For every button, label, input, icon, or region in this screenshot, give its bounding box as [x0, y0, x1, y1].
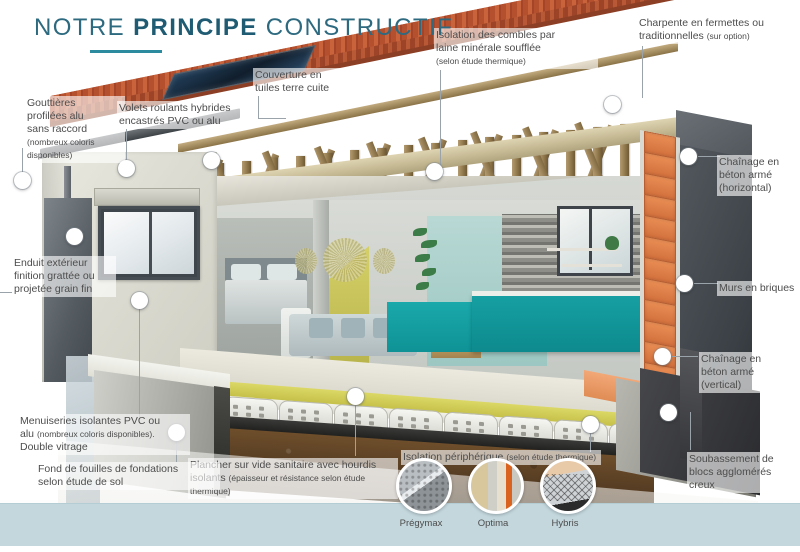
- hourdis-void: [356, 413, 361, 417]
- leader-line-chainage-v: [672, 356, 698, 357]
- hourdis-void: [301, 416, 306, 420]
- callout-label-couverture: Couverture en tuiles terre cuite: [253, 68, 367, 96]
- kitchen-worktop: [472, 291, 647, 296]
- hourdis-void: [343, 419, 348, 423]
- hourdis-void: [479, 422, 484, 426]
- callout-line: (horizontal): [719, 182, 799, 195]
- callout-line: creux: [689, 479, 797, 492]
- hourdis-void: [411, 424, 416, 428]
- hourdis-void: [479, 429, 484, 433]
- callout-label-volets: Volets roulants hybrides encastrés PVC o…: [117, 101, 241, 129]
- plant-leaf: [415, 254, 430, 262]
- page-title-block: NOTRE PRINCIPE CONSTRUCTIF: [34, 14, 453, 53]
- hourdis-void: [521, 432, 526, 436]
- hybris-material-icon: [540, 458, 596, 514]
- callout-line: profilées alu: [27, 110, 123, 123]
- callout-line: Fond de fouilles de fondations: [38, 463, 218, 476]
- title-part-1: NOTRE: [34, 14, 133, 41]
- callout-subnote: (sur option): [707, 31, 750, 41]
- callout-line-text: Menuiseries isolantes PVC ou: [20, 415, 160, 427]
- hourdis-void: [466, 421, 471, 425]
- plant-leaf: [413, 228, 427, 236]
- callout-line: Chaînage en: [719, 156, 799, 169]
- callout-line: béton armé: [701, 366, 789, 379]
- hourdis-void: [398, 416, 403, 420]
- indoor-plant: [413, 228, 439, 302]
- hourdis-void: [453, 420, 458, 424]
- hourdis-void: [369, 421, 374, 425]
- hourdis-void: [563, 428, 568, 432]
- hourdis-void: [246, 406, 251, 410]
- callout-line: sans raccord: [27, 123, 123, 136]
- hourdis-void: [453, 427, 458, 431]
- plant-leaf: [416, 282, 429, 290]
- callout-label-gouttieres: Gouttières profilées alu sans raccord (n…: [25, 96, 125, 163]
- window-mullion: [149, 212, 152, 274]
- hourdis-void: [411, 417, 416, 421]
- callout-dot-menuiseries[interactable]: [131, 292, 148, 309]
- callout-label-soubassement: Soubassement de blocs agglomérés creux: [687, 452, 799, 493]
- callout-dot-charpente[interactable]: [604, 96, 621, 113]
- hourdis-void: [534, 433, 539, 437]
- callout-line-text: alu: [20, 428, 34, 440]
- leader-line-charpente: [642, 46, 643, 98]
- hourdis-void: [534, 426, 539, 430]
- callout-label-charpente: Charpente en fermettes ou traditionnelle…: [637, 16, 791, 44]
- hourdis-void: [466, 428, 471, 432]
- hourdis-void: [301, 409, 306, 413]
- page-title: NOTRE PRINCIPE CONSTRUCTIF: [34, 14, 453, 42]
- callout-line: alu (nombreux coloris disponibles).: [20, 428, 188, 441]
- kitchen-shelf: [562, 264, 622, 267]
- callout-dot-chainage-horizontal[interactable]: [680, 148, 697, 165]
- material-chip-label: Hybris: [540, 518, 590, 529]
- hourdis-void: [314, 410, 319, 414]
- kitchen-island: [387, 302, 479, 352]
- plant-leaf: [421, 240, 437, 248]
- callout-line-text: traditionnelles: [639, 30, 704, 42]
- optima-material-icon: [468, 458, 524, 514]
- callout-line: (vertical): [701, 379, 789, 392]
- hourdis-void: [343, 412, 348, 416]
- potted-plant: [605, 236, 619, 250]
- callout-dot-isolation-peripherique[interactable]: [582, 416, 599, 433]
- leader-line-couverture-h: [258, 118, 286, 119]
- roller-shutter-box: [94, 188, 200, 206]
- hourdis-void: [288, 408, 293, 412]
- material-chip-optima[interactable]: Optima: [468, 458, 518, 529]
- material-chip-label: Optima: [468, 518, 518, 529]
- callout-line: Enduit extérieur: [14, 257, 114, 270]
- hourdis-void: [576, 429, 581, 433]
- callout-label-chainage-horizontal: Chaînage en béton armé (horizontal): [717, 155, 800, 196]
- title-part-bold: PRINCIPE: [133, 14, 258, 41]
- hourdis-void: [508, 424, 513, 428]
- callout-line: béton armé: [719, 169, 799, 182]
- hourdis-void: [246, 413, 251, 417]
- callout-line: selon étude de sol: [38, 476, 218, 489]
- interior-cutaway: [217, 176, 647, 386]
- leader-line-soubassement: [690, 412, 691, 450]
- callout-line: encastrés PVC ou alu: [119, 115, 239, 128]
- callout-line: projetée grain fin: [14, 283, 114, 296]
- callout-dot-murs-briques[interactable]: [676, 275, 693, 292]
- diagram-page: NOTRE PRINCIPE CONSTRUCTIF Gouttières pr…: [0, 0, 800, 552]
- brick-wall-cutaway: [640, 130, 680, 408]
- hourdis-void: [508, 431, 513, 435]
- hourdis-void: [259, 406, 264, 410]
- callout-subnote: (nombreux coloris disponibles).: [37, 429, 155, 439]
- callout-dot-gouttieres[interactable]: [14, 172, 31, 189]
- hourdis-void: [424, 425, 429, 429]
- cushion: [309, 318, 333, 338]
- hourdis-void: [356, 420, 361, 424]
- callout-label-isolation-combles: Isolation des combles par laine minérale…: [434, 28, 598, 69]
- leader-line-plancher: [355, 396, 356, 456]
- callout-line: blocs agglomérés: [689, 466, 797, 479]
- material-chip-hybris[interactable]: Hybris: [540, 458, 590, 529]
- material-chip-label: Prégymax: [396, 518, 446, 529]
- hourdis-void: [288, 415, 293, 419]
- callout-subnote: (selon étude thermique): [436, 56, 526, 66]
- hourdis-void: [576, 436, 581, 440]
- hourdis-void: [233, 405, 238, 409]
- callout-label-chainage-vertical: Chaînage en béton armé (vertical): [699, 352, 791, 393]
- callout-line: Charpente en fermettes ou: [639, 17, 789, 30]
- hourdis-void: [259, 413, 264, 417]
- hourdis-void: [521, 425, 526, 429]
- callout-line: Couverture en: [255, 69, 365, 82]
- callout-line: isolants (épaisseur et résistance selon …: [190, 472, 396, 498]
- interior-window-mullion: [589, 206, 592, 270]
- callout-line: Gouttières: [27, 97, 123, 110]
- callout-label-enduit: Enduit extérieur finition grattée ou pro…: [12, 256, 116, 297]
- callout-line: Menuiseries isolantes PVC ou: [20, 415, 188, 428]
- leader-line-menuiseries-v: [139, 300, 140, 420]
- callout-line: tuiles terre cuite: [255, 82, 365, 95]
- callout-line: Volets roulants hybrides: [119, 102, 239, 115]
- kitchen-counter: [472, 294, 647, 352]
- hourdis-void: [369, 414, 374, 418]
- callout-line: Murs en briques: [719, 282, 799, 295]
- callout-dot-couverture[interactable]: [203, 152, 220, 169]
- pillow: [231, 264, 261, 280]
- title-part-2: CONSTRUCTIF: [258, 14, 453, 41]
- callout-line: Soubassement de: [689, 453, 797, 466]
- title-underline-rule: [90, 50, 162, 53]
- callout-label-menuiseries: Menuiseries isolantes PVC ou alu (nombre…: [18, 414, 190, 455]
- callout-dot-soubassement[interactable]: [660, 404, 677, 421]
- callout-dot-isolation-combles[interactable]: [426, 163, 443, 180]
- hourdis-void: [233, 412, 238, 416]
- callout-dot-enduit[interactable]: [66, 228, 83, 245]
- sunburst-wall-decor-small: [295, 248, 317, 274]
- leader-line-murs: [694, 283, 718, 284]
- leader-line-isolation-combles: [440, 70, 441, 166]
- leader-line-enduit: [0, 292, 12, 293]
- pregymax-material-icon: [396, 458, 452, 514]
- callout-line: laine minérale soufflée: [436, 42, 596, 55]
- callout-dot-plancher[interactable]: [347, 388, 364, 405]
- material-chips: Prégymax Optima Hybris: [396, 458, 596, 546]
- plant-leaf: [422, 268, 436, 276]
- pillow: [267, 264, 297, 280]
- leader-line-couverture: [258, 96, 259, 118]
- hourdis-void: [314, 417, 319, 421]
- hourdis-void: [398, 423, 403, 427]
- callout-line: Plancher sur vide sanitaire avec hourdis: [190, 459, 396, 472]
- callout-line: traditionnelles (sur option): [639, 30, 789, 43]
- sunburst-wall-decor-small: [373, 248, 395, 274]
- cushion: [341, 318, 365, 338]
- callout-line: Chaînage en: [701, 353, 789, 366]
- hourdis-void: [563, 435, 568, 439]
- callout-label-murs-briques: Murs en briques: [717, 281, 800, 296]
- callout-dot-chainage-vertical[interactable]: [654, 348, 671, 365]
- callout-subnote: (nombreux coloris disponibles): [27, 137, 95, 160]
- material-chip-pregymax[interactable]: Prégymax: [396, 458, 446, 529]
- callout-line: finition grattée ou: [14, 270, 114, 283]
- callout-line: Double vitrage: [20, 441, 188, 454]
- callout-line: Isolation des combles par: [436, 29, 596, 42]
- callout-label-fond-fouilles: Fond de fouilles de fondations selon étu…: [36, 462, 220, 490]
- hourdis-void: [424, 418, 429, 422]
- sunburst-wall-decor: [323, 238, 367, 282]
